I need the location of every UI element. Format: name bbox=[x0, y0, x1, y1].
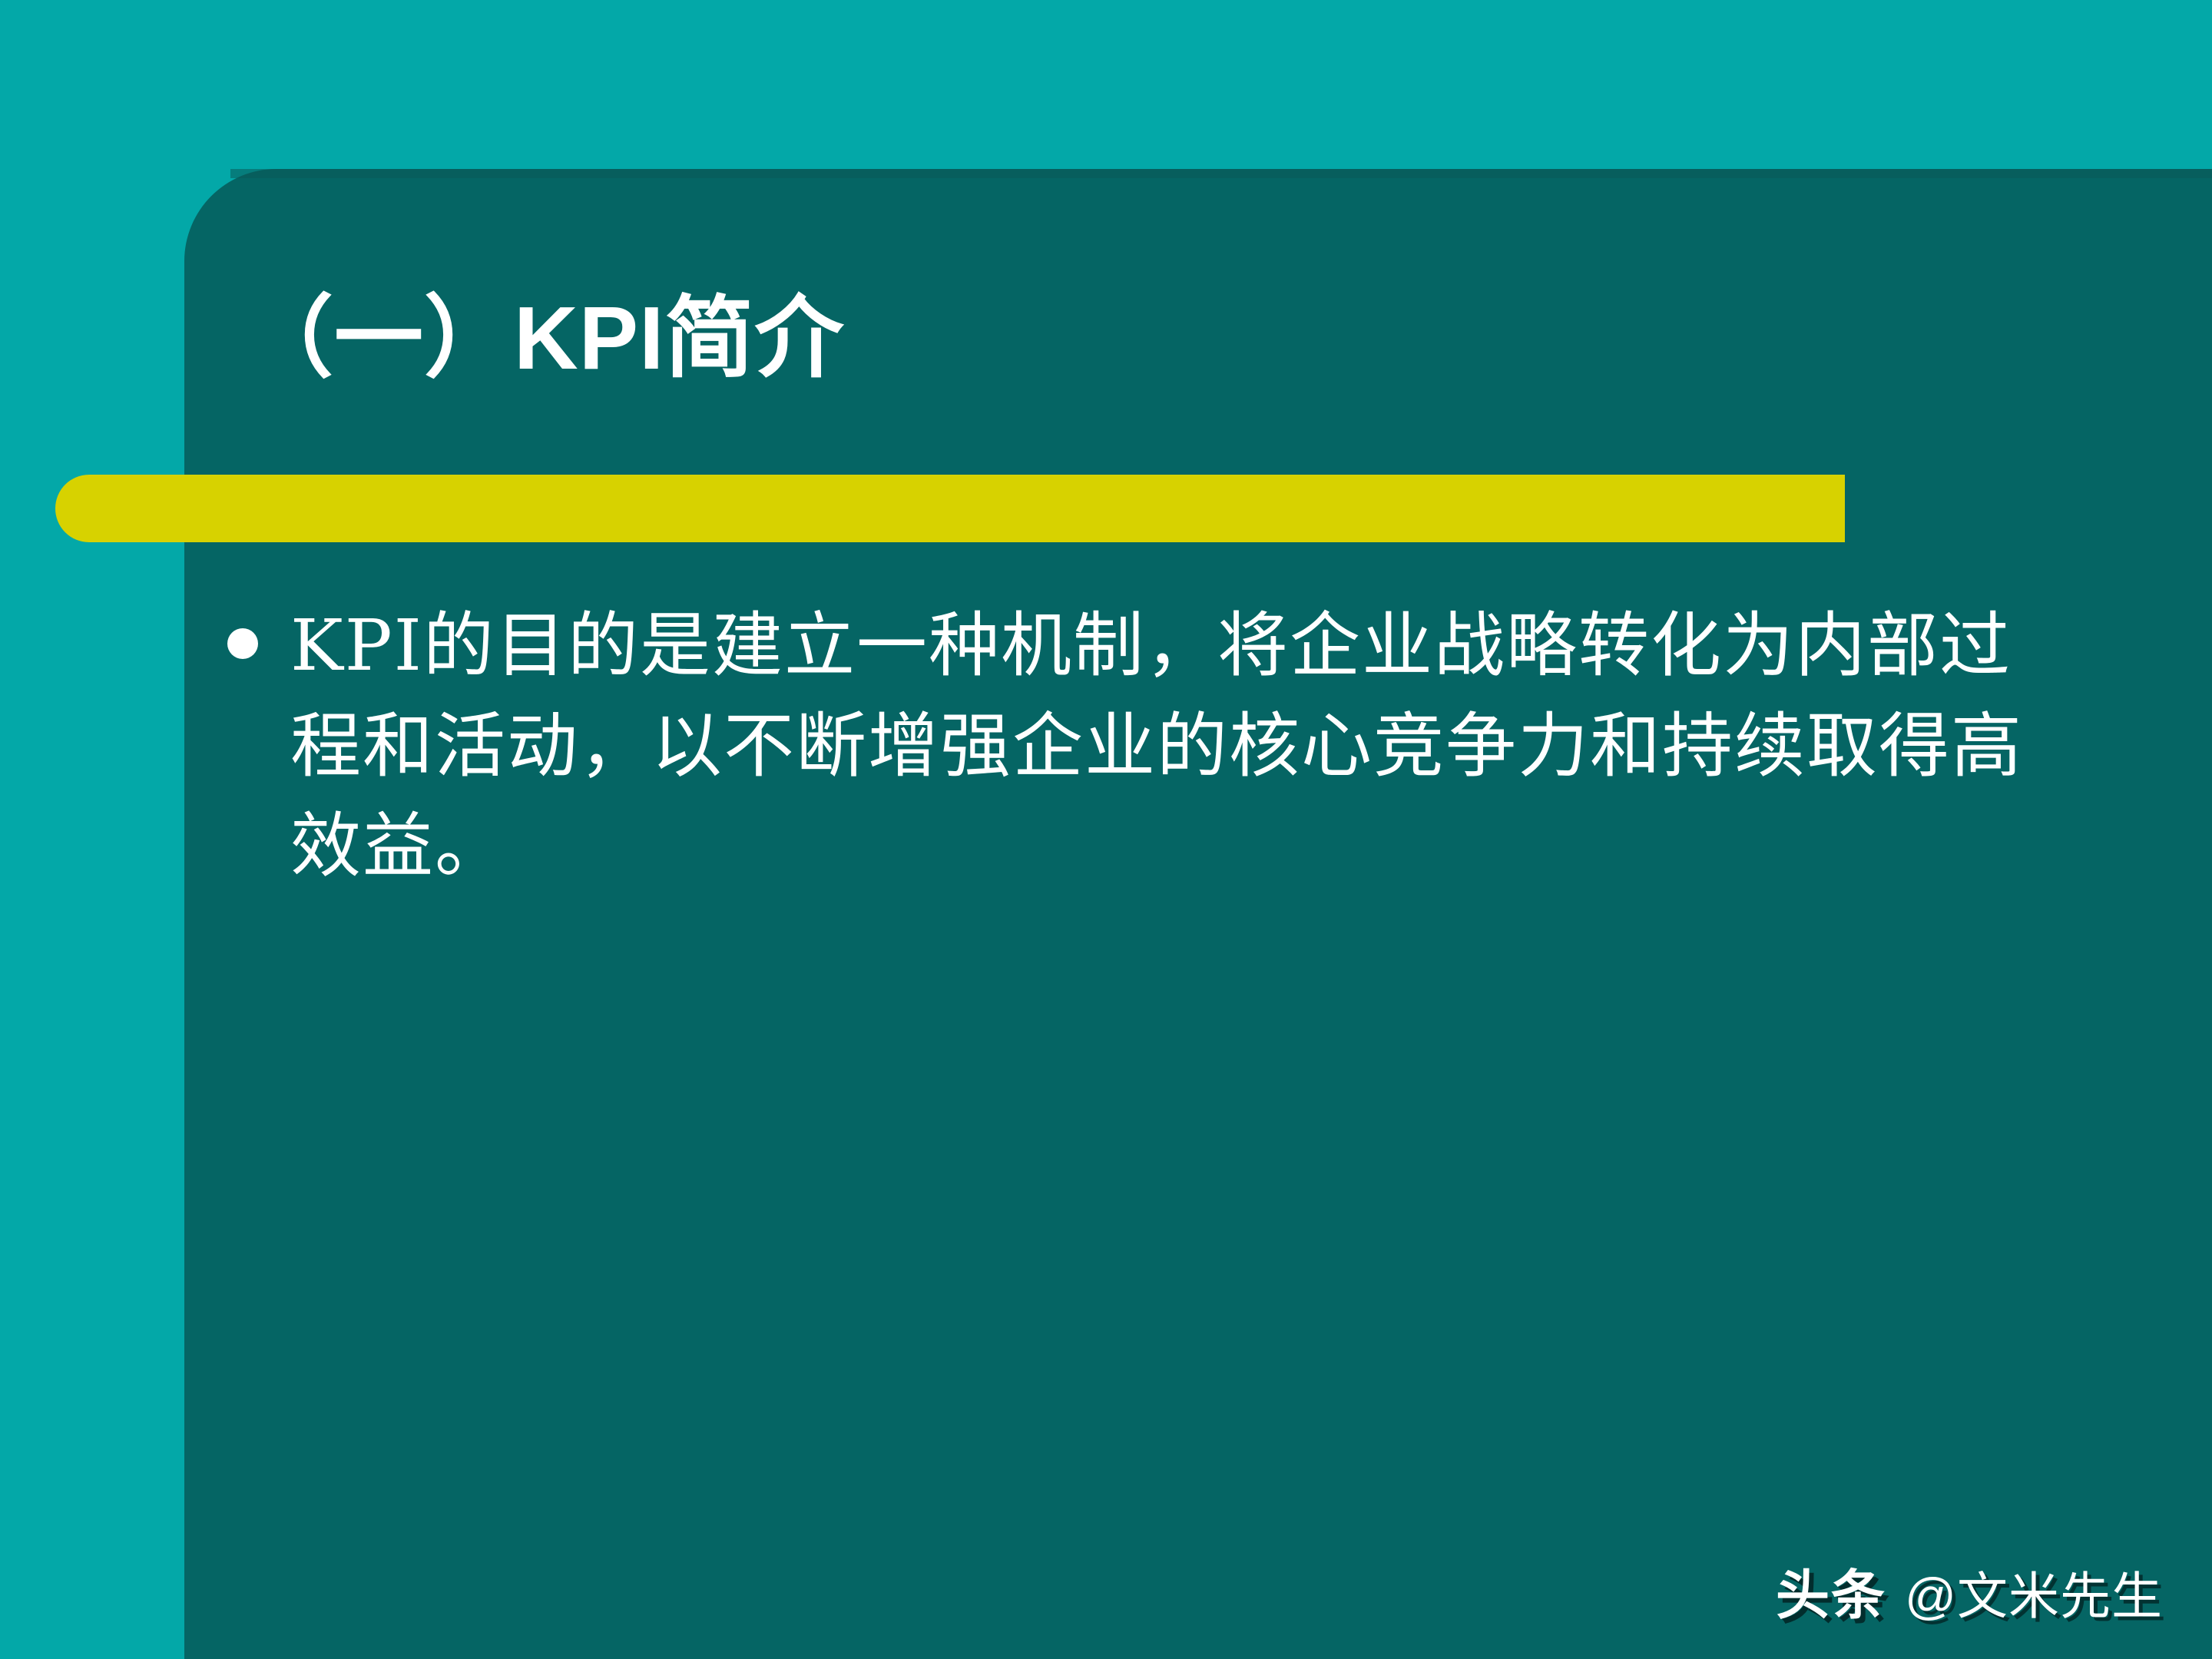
content-panel-top-shadow bbox=[230, 169, 2212, 178]
watermark: 头条 @文米先生 bbox=[1776, 1552, 2163, 1630]
watermark-brand: 头条 bbox=[1776, 1552, 1886, 1630]
title-accent-bar bbox=[55, 475, 1845, 542]
accent-block-top-left bbox=[0, 0, 783, 184]
bullet-point-icon bbox=[227, 628, 258, 659]
content-panel bbox=[184, 169, 2212, 1659]
slide-title: （一）KPI简介 bbox=[244, 289, 1934, 389]
presentation-slide: （一）KPI简介 KPI的目的是建立一种机制，将企业战略转化为内部过程和活动，以… bbox=[0, 0, 2212, 1659]
body-paragraph: KPI的目的是建立一种机制，将企业战略转化为内部过程和活动，以不断增强企业的核心… bbox=[290, 596, 2071, 897]
body-bullet-item: KPI的目的是建立一种机制，将企业战略转化为内部过程和活动，以不断增强企业的核心… bbox=[227, 596, 2071, 897]
watermark-handle: @文米先生 bbox=[1905, 1555, 2163, 1629]
